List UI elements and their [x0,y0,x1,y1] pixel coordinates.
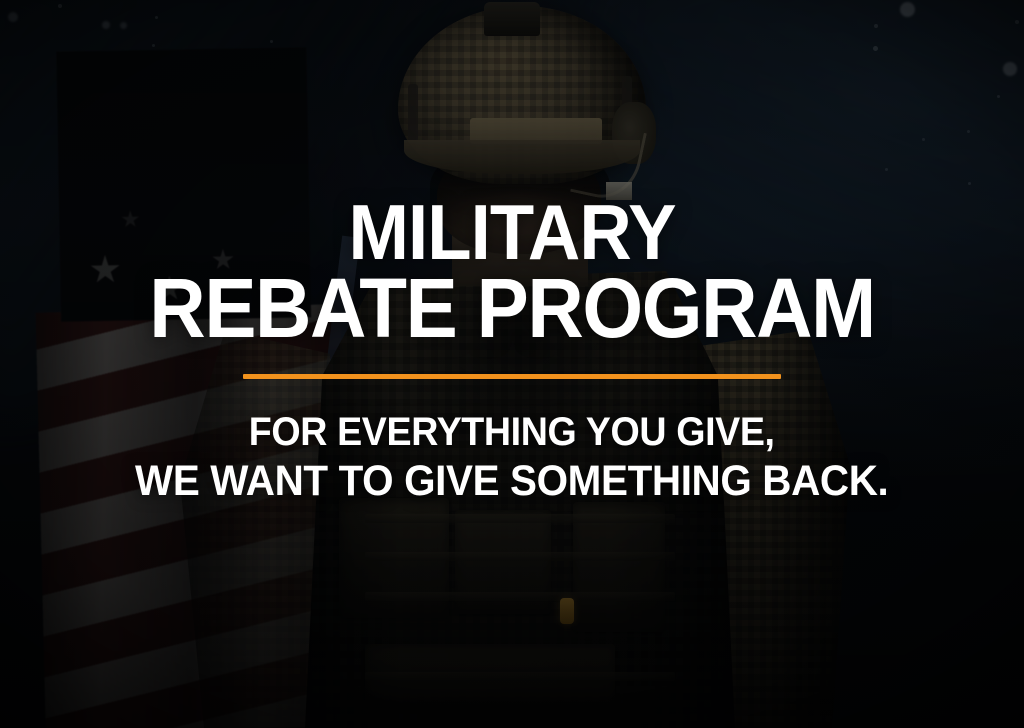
military-rebate-banner: MILITARY REBATE PROGRAM FOR EVERYTHING Y… [0,0,1024,728]
orange-rule-divider [243,374,781,379]
subheadline-line-2: WE WANT TO GIVE SOMETHING BACK. [135,456,888,507]
headline-line-2: REBATE PROGRAM [149,269,875,348]
page-title: MILITARY REBATE PROGRAM [149,196,875,348]
subheadline-line-1: FOR EVERYTHING YOU GIVE, [249,410,775,454]
banner-text-overlay: MILITARY REBATE PROGRAM FOR EVERYTHING Y… [0,0,1024,728]
subheadline: FOR EVERYTHING YOU GIVE, WE WANT TO GIVE… [135,409,888,507]
